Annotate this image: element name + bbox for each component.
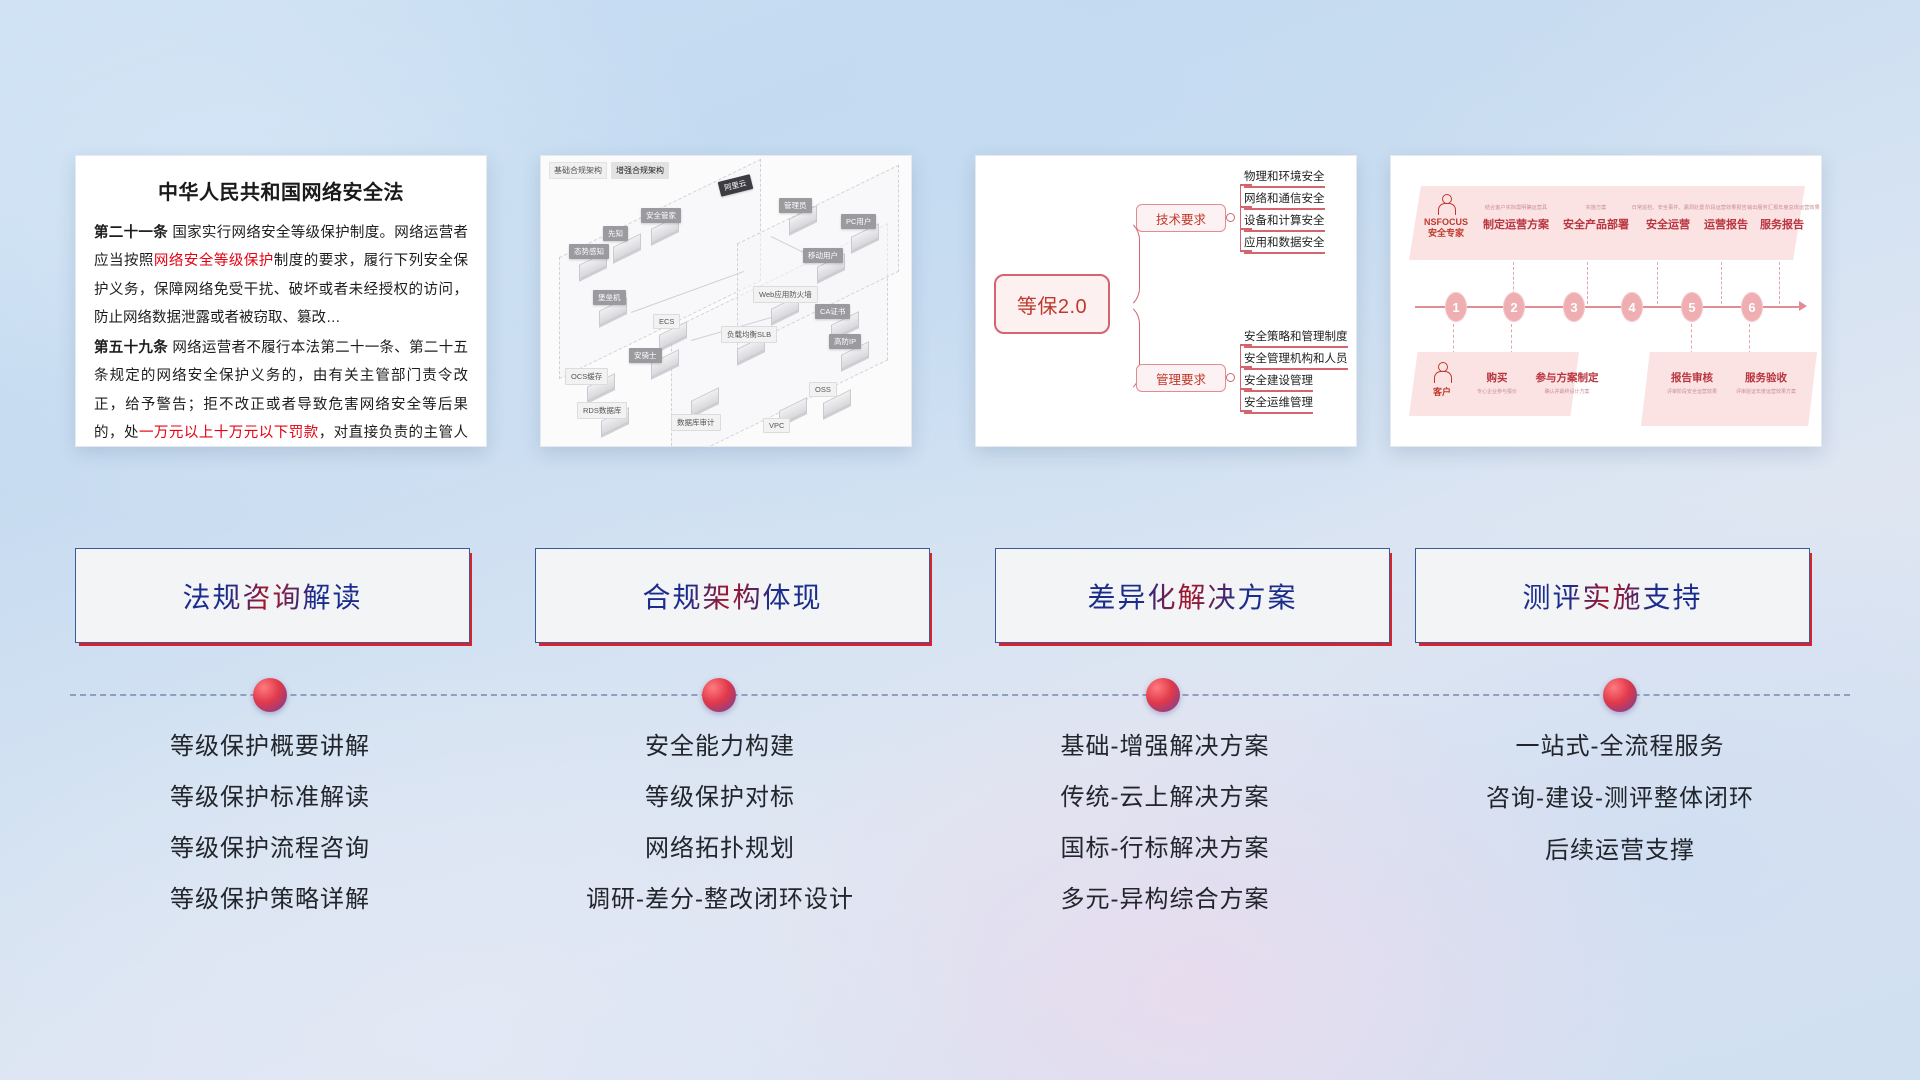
timeline-bottom-step-1-main: 购买: [1469, 370, 1525, 385]
mindmap: 等保2.0 技术要求 管理要求 物理和环境安全 网络和通信安全: [976, 156, 1356, 446]
timeline-top-step-1-sub: 结合客户实际需明确运营具: [1477, 204, 1555, 211]
law-article-59: 第五十九条 网络运营者不履行本法第二十一条、第二十五条规定的网络安全保护义务的，…: [94, 334, 468, 447]
node-waf: [771, 302, 797, 318]
label-situation-awareness: 态势感知: [569, 244, 609, 259]
timeline-bottom-step-3: 报告审核 评审阶段安全运营效果: [1659, 370, 1725, 395]
timeline-top-step-5-sub: 输出服务汇报年度总体运营效果: [1747, 204, 1817, 211]
mindmap-branch-technical: 技术要求: [1136, 204, 1226, 232]
customer-icon: [1434, 362, 1450, 382]
detail-column-2: 安全能力构建 等级保护对标 网络拓扑规划 调研-差分-整改闭环设计: [520, 735, 920, 939]
label-bastion-host: 堡垒机: [593, 290, 626, 305]
timeline-connector-b3: [1691, 324, 1693, 354]
architecture-tabs: 基础合规架构 增强合规架构: [549, 162, 669, 179]
label-vpc: VPC: [763, 418, 790, 433]
card-service-timeline: NSFOCUS 安全专家 结合客户实际需明确运营具 制定运营方案 实施方案 安全…: [1390, 155, 1822, 447]
expert-icon: [1438, 194, 1454, 214]
tab-basic-architecture[interactable]: 基础合规架构: [549, 162, 607, 179]
timeline-bead-2[interactable]: [702, 678, 736, 712]
label-ca-cert: CA证书: [815, 304, 850, 319]
timeline-connector-2: [1587, 262, 1589, 304]
label-admin: 管理员: [779, 198, 812, 213]
label-xianzhi: 先知: [603, 226, 628, 241]
timeline-expert: NSFOCUS 安全专家: [1417, 194, 1475, 240]
tab-enhanced-architecture[interactable]: 增强合规架构: [611, 162, 669, 179]
label-anqishi: 安骑士: [629, 348, 662, 363]
timeline-bottom-step-2: 参与方案制定 确认并最终设计方案: [1527, 370, 1607, 395]
label-anti-ddos-ip: 高防IP: [829, 334, 861, 349]
node-xianzhi: [613, 240, 639, 256]
law-article-21: 第二十一条 国家实行网络安全等级保护制度。网络运营者应当按照网络安全等级保护制度…: [94, 219, 468, 332]
mindmap-leaf-tech-0: 物理和环境安全: [1244, 168, 1325, 188]
label-ocs-cache: OCS缓存: [565, 368, 608, 385]
mindmap-curve-tech: [1102, 218, 1140, 310]
node-security-butler: [651, 222, 677, 238]
detail-item-4-3: 后续运营支撑: [1420, 839, 1820, 863]
detail-item-3-2: 传统-云上解决方案: [965, 786, 1365, 810]
heading-box-differentiated-solution[interactable]: 差异化解决方案: [995, 548, 1390, 643]
timeline-top-step-5: 输出服务汇报年度总体运营效果 服务报告: [1747, 204, 1817, 232]
heading-label-1: 法规咨询解读: [182, 576, 362, 616]
mindmap-leaf-mgmt-0: 安全策略和管理制度: [1244, 328, 1348, 348]
detail-columns-row: 等级保护概要讲解 等级保护标准解读 等级保护流程咨询 等级保护策略详解 安全能力…: [0, 735, 1920, 965]
architecture-canvas: 阿里云 安全管家 先知 态势感知 堡垒机 ECS 安骑士 OCS缓存: [541, 156, 911, 446]
timeline-connector-4: [1721, 262, 1723, 304]
detail-item-1-1: 等级保护概要讲解: [70, 735, 470, 759]
architecture-diagram: 基础合规架构 增强合规架构 阿里云 安全管家 先知 态势感知 堡垒机: [541, 156, 911, 446]
node-db-audit: [691, 394, 717, 410]
node-bastion-host: [599, 304, 625, 320]
timeline-connector-b1: [1453, 324, 1455, 354]
mindmap-leaf-tech-1: 网络和通信安全: [1244, 190, 1325, 210]
node-situation-awareness: [579, 258, 605, 274]
timeline-node-3: 3: [1563, 292, 1585, 322]
heading-label-2: 合规架构体现: [642, 576, 822, 616]
mindmap-leaf-mgmt-1: 安全管理机构和人员: [1244, 350, 1348, 370]
mindmap-curve-mgmt: [1102, 302, 1140, 394]
heading-boxes-row: 法规咨询解读 合规架构体现 差异化解决方案 测评实施支持: [0, 548, 1920, 648]
expert-brand: NSFOCUS: [1417, 217, 1475, 228]
label-pc-user: PC用户: [841, 214, 876, 229]
detail-item-2-3: 网络拓扑规划: [520, 837, 920, 861]
card-cybersecurity-law: 中华人民共和国网络安全法 第二十一条 国家实行网络安全等级保护制度。网络运营者应…: [75, 155, 487, 447]
mindmap-leaf-tech-2: 设备和计算安全: [1244, 212, 1325, 232]
timeline-top-step-5-main: 服务报告: [1747, 216, 1817, 232]
timeline-connector-b2: [1511, 324, 1513, 354]
detail-item-1-4: 等级保护策略详解: [70, 888, 470, 912]
timeline-node-6: 6: [1741, 292, 1763, 322]
law-article-21-seg-1: 网络安全等级保护: [154, 253, 274, 269]
slide-canvas: 中华人民共和国网络安全法 第二十一条 国家实行网络安全等级保护制度。网络运营者应…: [0, 0, 1920, 1080]
timeline-bead-1[interactable]: [253, 678, 287, 712]
detail-item-3-1: 基础-增强解决方案: [965, 735, 1365, 759]
mindmap-root: 等保2.0: [994, 274, 1110, 334]
law-title: 中华人民共和国网络安全法: [94, 176, 468, 205]
node-pc-user: [851, 230, 877, 246]
timeline-bottom-step-3-main: 报告审核: [1659, 370, 1725, 385]
law-body: 中华人民共和国网络安全法 第二十一条 国家实行网络安全等级保护制度。网络运营者应…: [76, 156, 486, 446]
process-timeline: [0, 660, 1920, 720]
mindmap-dot-technical: [1226, 213, 1235, 222]
label-waf: Web应用防火墙: [753, 286, 818, 303]
law-article-59-seg-1: 一万元以上十万元以下罚款: [139, 425, 319, 441]
mindmap-spine-management: [1240, 344, 1241, 410]
timeline-connector-3: [1657, 262, 1659, 304]
customer-role: 客户: [1419, 385, 1465, 398]
heading-box-compliance-architecture[interactable]: 合规架构体现: [535, 548, 930, 643]
node-ecs: [659, 328, 685, 344]
detail-item-3-4: 多元-异构综合方案: [965, 888, 1365, 912]
node-admin: [789, 212, 815, 228]
detail-item-4-2: 咨询-建设-测评整体闭环: [1420, 787, 1820, 811]
timeline-bottom-step-3-sub: 评审阶段安全运营效果: [1659, 388, 1725, 395]
timeline-bottom-step-4-main: 服务验收: [1733, 370, 1799, 385]
label-db-audit: 数据库审计: [671, 414, 721, 431]
detail-item-2-4: 调研-差分-整改闭环设计: [520, 888, 920, 912]
reference-cards-row: 中华人民共和国网络安全法 第二十一条 国家实行网络安全等级保护制度。网络运营者应…: [0, 0, 1920, 460]
heading-box-regulation-consulting[interactable]: 法规咨询解读: [75, 548, 470, 643]
law-article-21-label: 第二十一条: [94, 225, 168, 241]
detail-item-1-3: 等级保护流程咨询: [70, 837, 470, 861]
timeline-bottom-step-1: 购买 专心企业参与报价: [1469, 370, 1525, 395]
detail-item-2-2: 等级保护对标: [520, 786, 920, 810]
timeline-connector-b4: [1749, 324, 1751, 354]
label-security-butler: 安全管家: [641, 208, 681, 223]
law-article-59-label: 第五十九条: [94, 340, 168, 356]
timeline-bottom-step-2-main: 参与方案制定: [1527, 370, 1607, 385]
timeline-bead-3[interactable]: [1146, 678, 1180, 712]
detail-item-3-3: 国标-行标解决方案: [965, 837, 1365, 861]
node-slb: [737, 342, 763, 358]
timeline-arrow-icon: [1799, 301, 1807, 311]
timeline-dashed-line: [70, 694, 1850, 696]
card-mindmap-dengbao: 等保2.0 技术要求 管理要求 物理和环境安全 网络和通信安全: [975, 155, 1357, 447]
mindmap-leaf-mgmt-2: 安全建设管理: [1244, 372, 1313, 392]
timeline-bottom-step-4-sub: 评审验证年度运营效果方案: [1733, 388, 1799, 395]
detail-item-1-2: 等级保护标准解读: [70, 786, 470, 810]
timeline-node-2: 2: [1503, 292, 1525, 322]
label-ecs: ECS: [653, 314, 680, 329]
timeline-bead-4[interactable]: [1603, 678, 1637, 712]
mindmap-branch-management: 管理要求: [1136, 364, 1226, 392]
mindmap-dot-management: [1226, 373, 1235, 382]
detail-item-2-1: 安全能力构建: [520, 735, 920, 759]
timeline-bottom-step-4: 服务验收 评审验证年度运营效果方案: [1733, 370, 1799, 395]
heading-box-assessment-support[interactable]: 测评实施支持: [1415, 548, 1810, 643]
timeline-node-4: 4: [1621, 292, 1643, 322]
node-anti-ddos-ip: [841, 348, 867, 364]
timeline-node-5: 5: [1681, 292, 1703, 322]
mindmap-leaf-mgmt-3: 安全运维管理: [1244, 394, 1313, 414]
timeline-node-1: 1: [1445, 292, 1467, 322]
timeline-customer: 客户: [1419, 362, 1465, 398]
mindmap-leaf-tech-3: 应用和数据安全: [1244, 234, 1325, 254]
node-ca-cert: [831, 318, 857, 334]
service-timeline: NSFOCUS 安全专家 结合客户实际需明确运营具 制定运营方案 实施方案 安全…: [1391, 156, 1821, 446]
node-oss: [823, 396, 849, 412]
timeline-bottom-step-2-sub: 确认并最终设计方案: [1527, 388, 1607, 395]
label-mobile-user: 移动用户: [803, 248, 843, 263]
detail-item-4-1: 一站式-全流程服务: [1420, 735, 1820, 759]
timeline-connector-5: [1779, 262, 1781, 304]
heading-label-3: 差异化解决方案: [1087, 576, 1297, 616]
expert-role: 安全专家: [1417, 228, 1475, 239]
detail-column-4: 一站式-全流程服务 咨询-建设-测评整体闭环 后续运营支撑: [1420, 735, 1820, 891]
timeline-top-step-1: 结合客户实际需明确运营具 制定运营方案: [1477, 204, 1555, 232]
timeline-bottom-step-1-sub: 专心企业参与报价: [1469, 388, 1525, 395]
label-slb: 负载均衡SLB: [721, 326, 777, 343]
detail-column-1: 等级保护概要讲解 等级保护标准解读 等级保护流程咨询 等级保护策略详解: [70, 735, 470, 939]
mindmap-spine-technical: [1240, 184, 1241, 250]
label-rds-database: RDS数据库: [577, 402, 627, 419]
label-oss: OSS: [809, 382, 837, 397]
detail-column-3: 基础-增强解决方案 传统-云上解决方案 国标-行标解决方案 多元-异构综合方案: [965, 735, 1365, 939]
timeline-top-step-1-main: 制定运营方案: [1477, 216, 1555, 232]
card-compliance-architecture: 基础合规架构 增强合规架构 阿里云 安全管家 先知 态势感知 堡垒机: [540, 155, 912, 447]
heading-label-4: 测评实施支持: [1522, 576, 1702, 616]
